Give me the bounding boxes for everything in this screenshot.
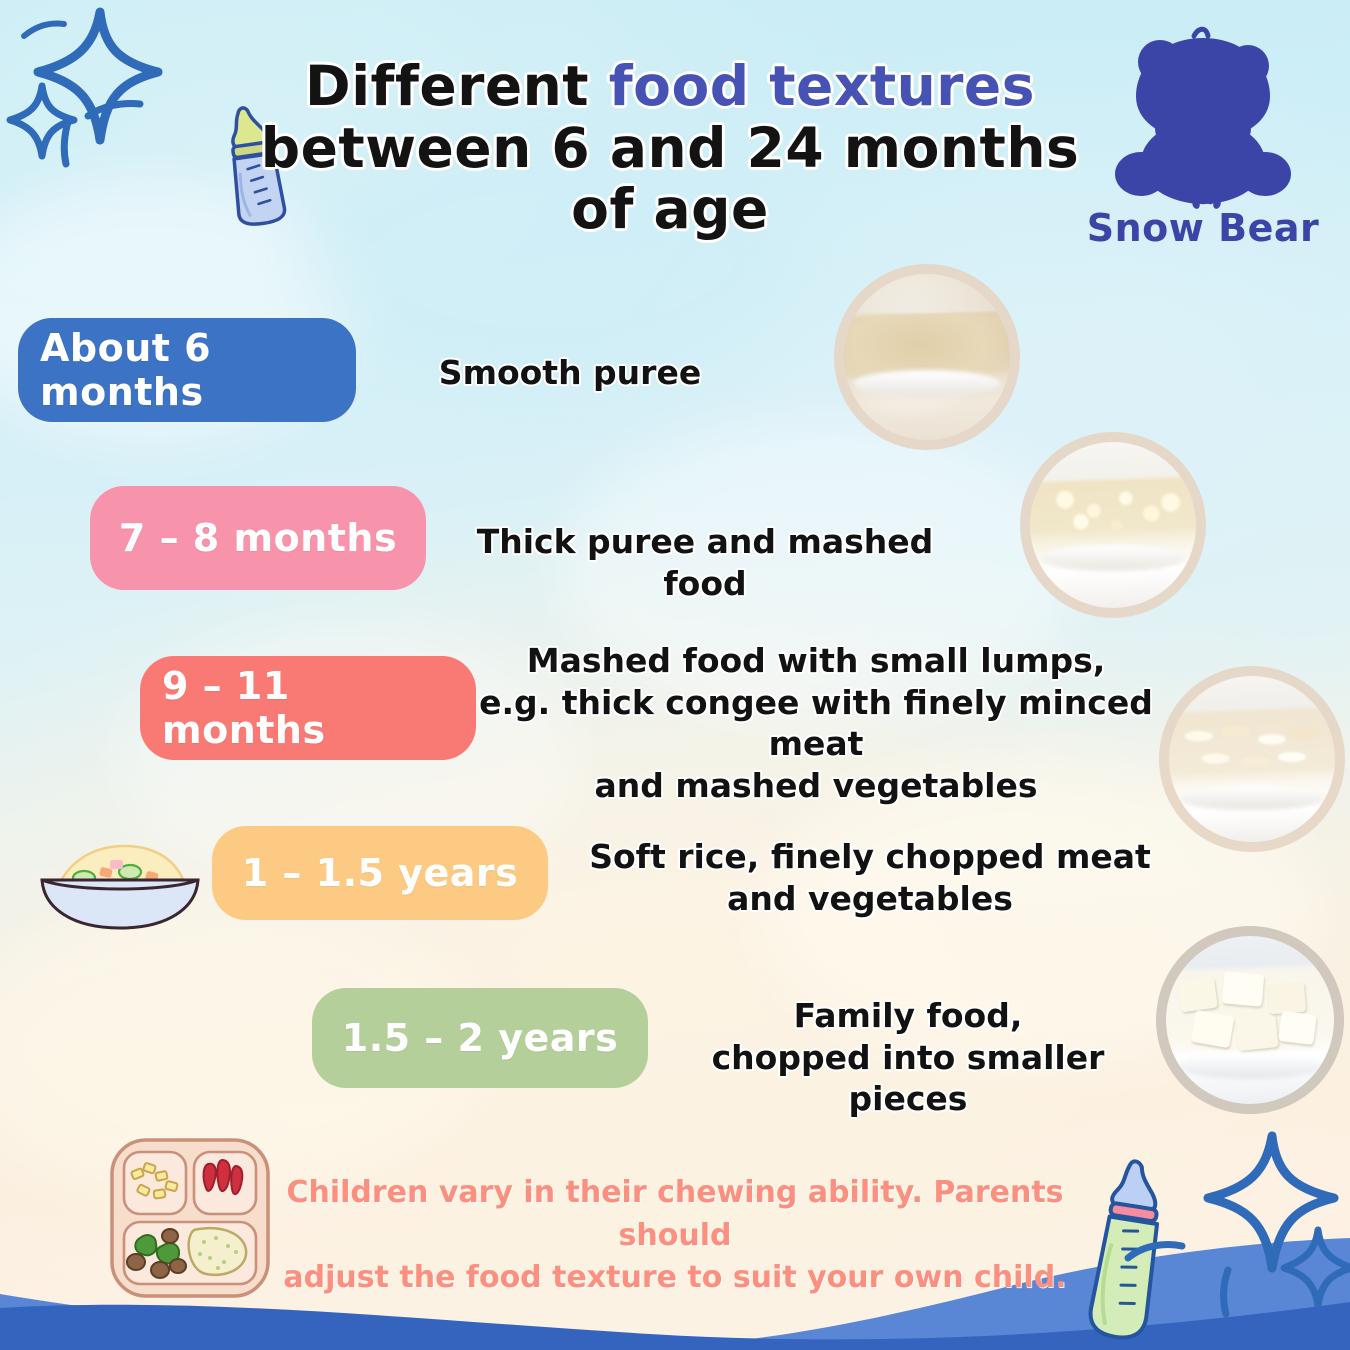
- food-photo-1: [844, 274, 1010, 440]
- age-badge-5[interactable]: 1.5 – 2 years: [312, 988, 648, 1088]
- sparkle-star-small-icon: [0, 78, 82, 164]
- bear-silhouette-icon: [1098, 22, 1308, 212]
- title-line-3: of age: [240, 179, 1100, 241]
- sparkle-star-icon: [14, 6, 172, 152]
- sparkle-dash-icon: [20, 18, 68, 44]
- title-accent: food textures: [609, 54, 1035, 118]
- food-photo-2: [1030, 442, 1196, 608]
- age-badge-1-label: About 6 months: [40, 326, 334, 414]
- description-3: Mashed food with small lumps, e.g. thick…: [436, 640, 1196, 806]
- food-photo-5: [1166, 936, 1334, 1104]
- description-4: Soft rice, finely chopped meat and veget…: [570, 836, 1170, 919]
- sparkle-dash-icon: [84, 96, 144, 126]
- food-photo-3: [1169, 676, 1335, 842]
- age-badge-2[interactable]: 7 – 8 months: [90, 486, 426, 590]
- age-badge-3[interactable]: 9 – 11 months: [140, 656, 476, 760]
- rice-bowl-illustration-icon: [32, 832, 208, 940]
- age-badge-3-label: 9 – 11 months: [162, 664, 454, 752]
- page-title: Different food textures between 6 and 24…: [240, 56, 1100, 241]
- paw-print-icon: [1191, 193, 1221, 210]
- infographic-poster: Different food textures between 6 and 24…: [0, 0, 1350, 1350]
- divided-plate-illustration-icon: [104, 1134, 276, 1304]
- age-badge-1[interactable]: About 6 months: [18, 318, 356, 422]
- description-1: Smooth puree: [400, 352, 740, 394]
- title-line-1: Different food textures: [240, 56, 1100, 118]
- sparkle-dash-icon: [56, 118, 86, 168]
- sparkle-dash-icon: [1214, 1264, 1244, 1318]
- age-badge-5-label: 1.5 – 2 years: [342, 1016, 619, 1060]
- age-badge-4-label: 1 – 1.5 years: [242, 851, 519, 895]
- title-plain: Different: [305, 54, 609, 118]
- description-5: Family food, chopped into smaller pieces: [648, 995, 1168, 1120]
- footer-note: Children vary in their chewing ability. …: [255, 1172, 1095, 1300]
- brand-name-text: Snow Bear: [1078, 206, 1328, 250]
- sparkle-star-small-icon: [1272, 1222, 1350, 1314]
- sparkle-dash-icon: [1124, 1236, 1186, 1268]
- brand-logo: Snow Bear: [1078, 22, 1328, 250]
- age-badge-2-label: 7 – 8 months: [119, 516, 397, 560]
- description-2: Thick puree and mashed food: [460, 521, 950, 604]
- title-line-2: between 6 and 24 months: [240, 118, 1100, 180]
- sparkle-star-icon: [1186, 1128, 1350, 1280]
- age-badge-4[interactable]: 1 – 1.5 years: [212, 826, 548, 920]
